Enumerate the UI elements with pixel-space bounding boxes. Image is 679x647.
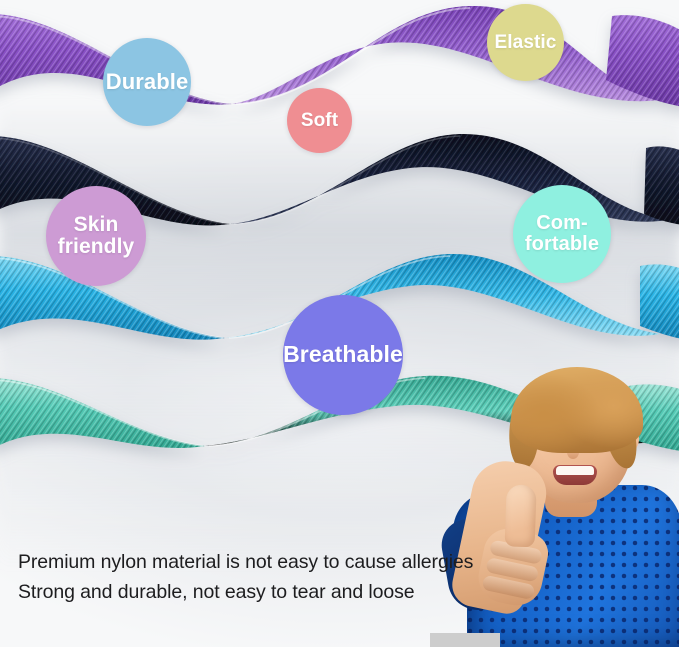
badge-skin-friendly-label: Skin friendly (54, 214, 139, 258)
badge-elastic-label: Elastic (491, 33, 561, 53)
teeth (556, 466, 594, 475)
product-feature-image: Durable Elastic Soft Skin friendly Com- … (0, 0, 679, 647)
copy-line-1: Premium nylon material is not easy to ca… (18, 547, 538, 577)
marketing-copy: Premium nylon material is not easy to ca… (18, 547, 538, 607)
copy-line-2: Strong and durable, not easy to tear and… (18, 577, 538, 607)
badge-elastic[interactable]: Elastic (487, 4, 564, 81)
badge-durable[interactable]: Durable (103, 38, 191, 126)
badge-durable-label: Durable (102, 71, 193, 94)
hair (511, 367, 643, 453)
badge-comfortable[interactable]: Com- fortable (513, 185, 611, 283)
badge-breathable-label: Breathable (279, 343, 407, 367)
thumb-up (505, 484, 537, 547)
badge-soft[interactable]: Soft (287, 88, 352, 153)
badge-breathable[interactable]: Breathable (283, 295, 403, 415)
badge-comfortable-label: Com- fortable (521, 213, 603, 255)
bottom-grey-tag (430, 633, 500, 647)
badge-soft-label: Soft (297, 111, 342, 131)
badge-skin-friendly[interactable]: Skin friendly (46, 186, 146, 286)
mouth (553, 465, 597, 485)
